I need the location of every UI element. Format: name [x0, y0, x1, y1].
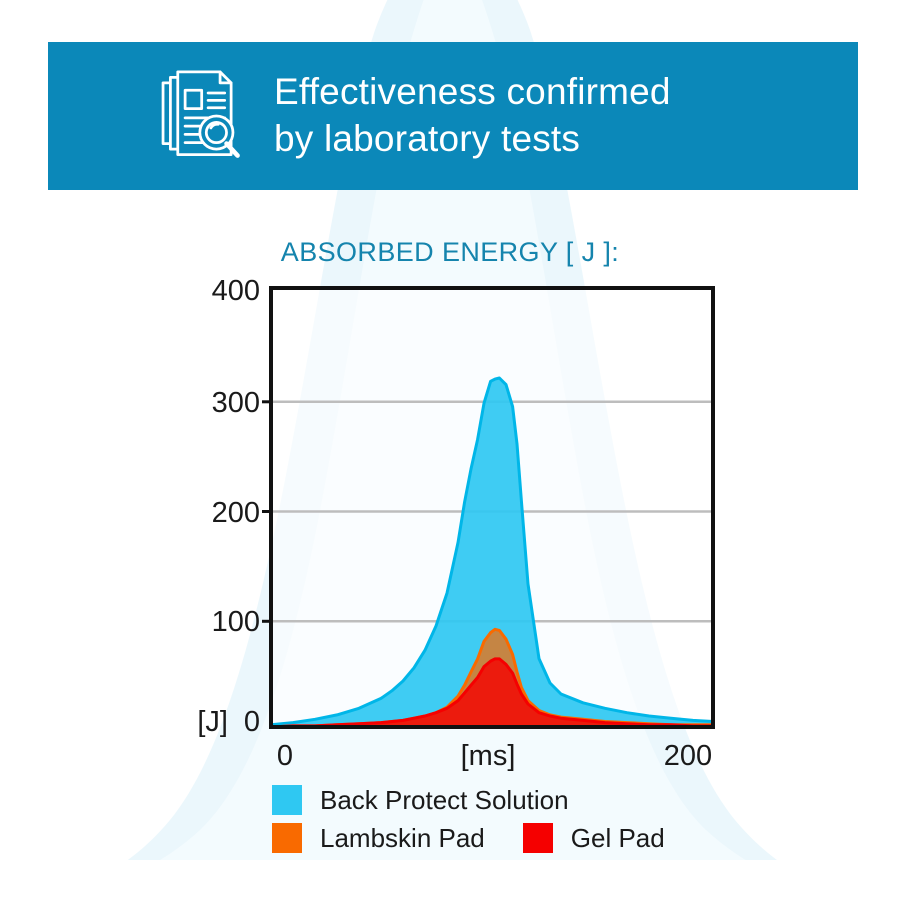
- y-tick-400: 400: [212, 275, 260, 307]
- chart-title: ABSORBED ENERGY [ J ]:: [0, 237, 900, 268]
- x-axis-unit-label: [ms]: [461, 740, 516, 772]
- chart-legend: Back Protect Solution Lambskin Pad Gel P…: [272, 781, 702, 857]
- x-tick-200: 200: [664, 740, 712, 772]
- y-axis-labels: 400 300 200 100 0 [J]: [197, 275, 260, 738]
- legend-swatch-orange: [272, 823, 302, 853]
- legend-row-back-protect-solution: Back Protect Solution: [272, 781, 702, 819]
- y-axis-unit-label: [J]: [197, 706, 228, 738]
- legend-row-pads: Lambskin Pad Gel Pad: [272, 819, 702, 857]
- x-axis-labels: 0 [ms] 200: [277, 740, 712, 772]
- header-title: Effectiveness confirmed by laboratory te…: [274, 69, 671, 162]
- legend-label-gel-pad: Gel Pad: [571, 823, 665, 854]
- y-tick-100: 100: [212, 606, 260, 638]
- y-tick-300: 300: [212, 387, 260, 419]
- y-tick-200: 200: [212, 497, 260, 529]
- y-tick-0: 0: [244, 706, 260, 738]
- legend-swatch-red: [523, 823, 553, 853]
- document-search-icon: [152, 70, 244, 162]
- header-banner: Effectiveness confirmed by laboratory te…: [48, 42, 858, 190]
- legend-label-lambskin-pad: Lambskin Pad: [320, 823, 485, 854]
- legend-swatch-cyan: [272, 785, 302, 815]
- legend-label-back-protect-solution: Back Protect Solution: [320, 785, 569, 816]
- infographic-root: Effectiveness confirmed by laboratory te…: [0, 0, 900, 900]
- x-tick-0: 0: [277, 740, 293, 772]
